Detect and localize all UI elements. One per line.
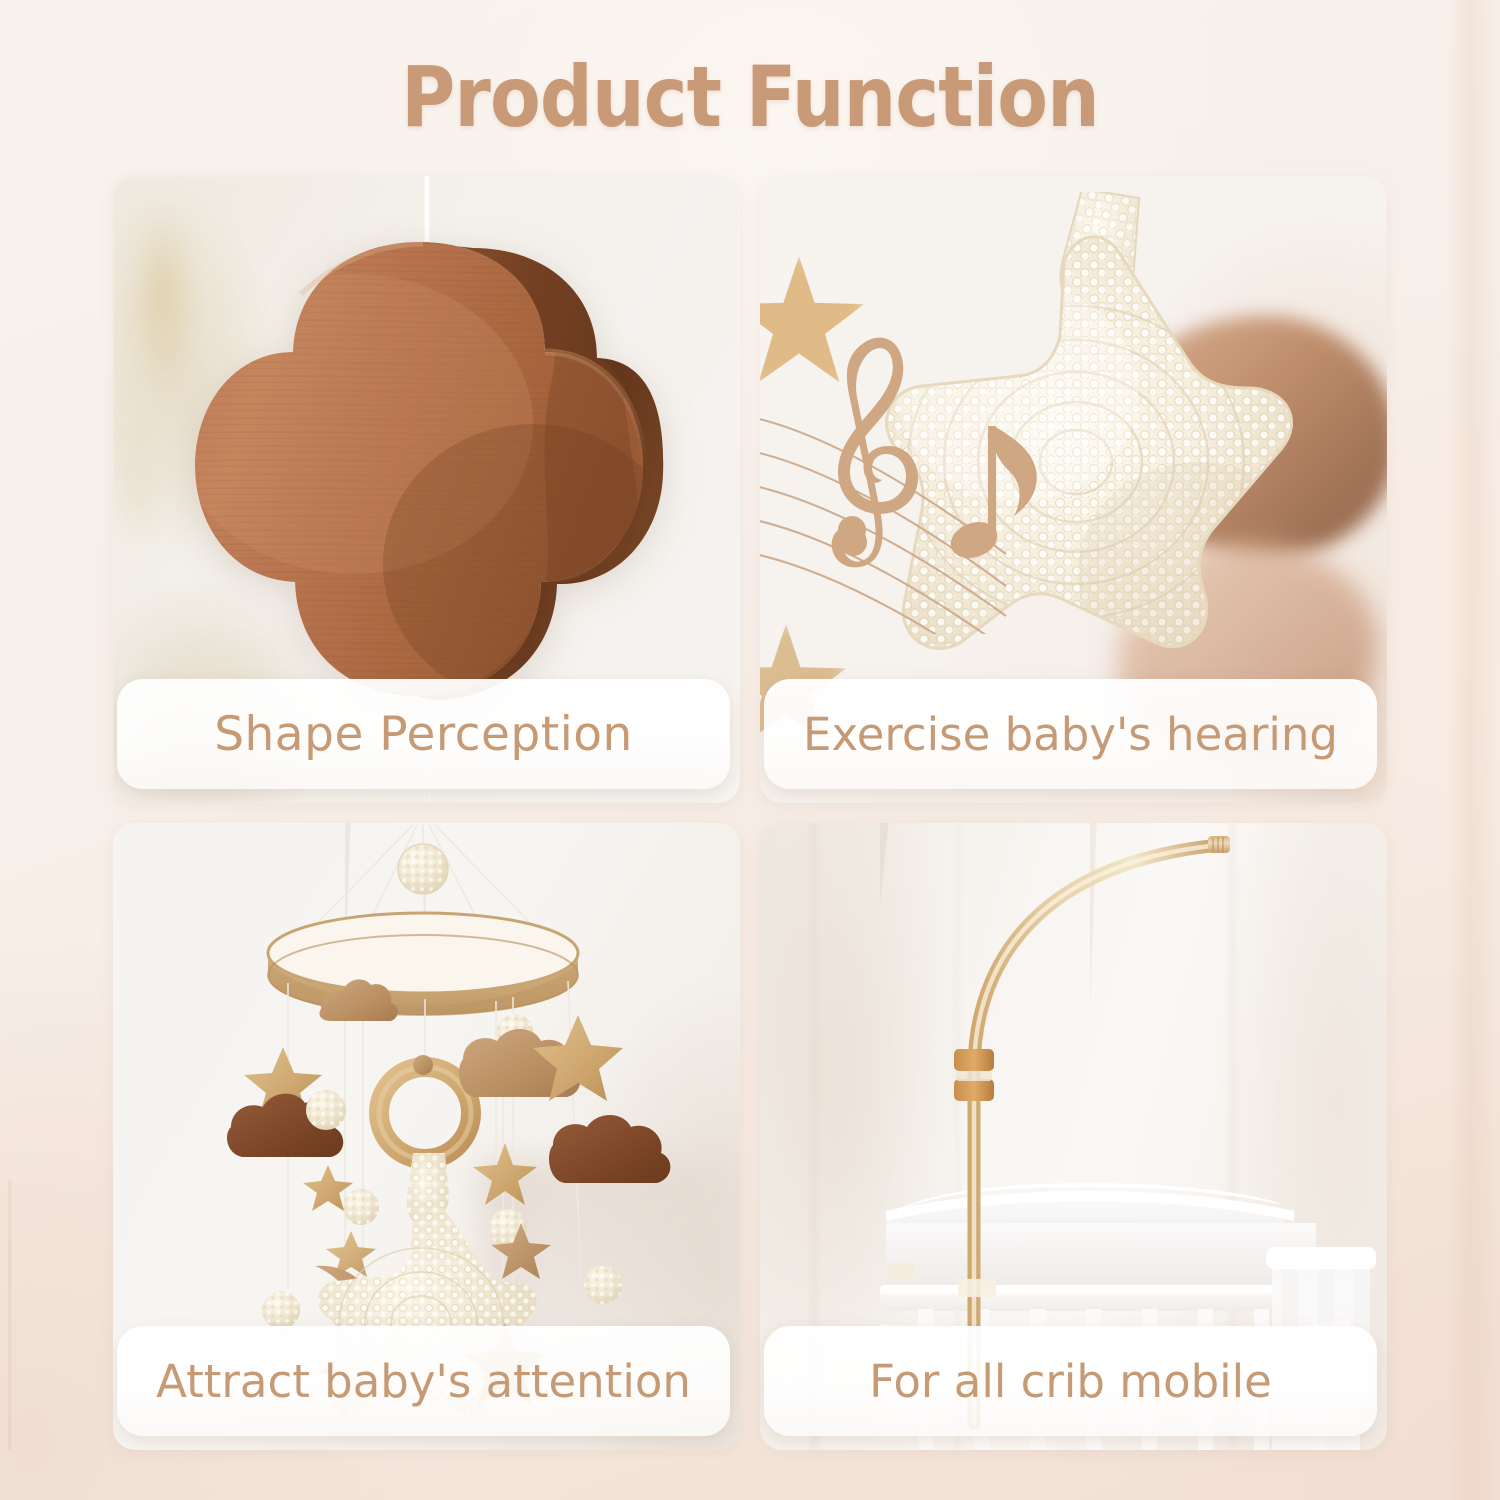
product-photo-crochet-star: Exercise baby's hearing [760, 176, 1387, 803]
panel-caption-bar: For all crib mobile [764, 1326, 1377, 1436]
feature-panel-shape-perception[interactable]: Shape Perception [113, 176, 740, 803]
caption-label: Exercise baby's hearing [803, 708, 1338, 761]
arm-clamp-upper [954, 1049, 994, 1071]
feature-panel-exercise-hearing[interactable]: Exercise baby's hearing [760, 176, 1387, 803]
panel-caption-bar: Attract baby's attention [117, 1326, 730, 1436]
crochet-ball-left-mid [306, 1090, 346, 1130]
crochet-ball-bottom-left [262, 1291, 300, 1329]
wooden-hoop [268, 913, 578, 1015]
feature-panel-all-crib-mobile[interactable]: For all crib mobile [760, 823, 1387, 1450]
crochet-ball-bottom-right [584, 1266, 622, 1304]
wooden-teething-ring [379, 1067, 471, 1159]
page-title: Product Function [90, 48, 1410, 146]
caption-label: For all crib mobile [869, 1355, 1272, 1408]
wooden-star-5 [473, 1143, 537, 1205]
arm-base-bracket [958, 1279, 996, 1297]
music-notes-graphic [760, 304, 1086, 634]
product-photo-full-mobile: Attract baby's attention [113, 823, 740, 1450]
panel-caption-bar: Shape Perception [117, 679, 730, 789]
caption-label: Attract baby's attention [156, 1355, 691, 1408]
feature-panel-grid: Shape Perception [113, 176, 1387, 1450]
wooden-cloud-dark-right [549, 1115, 670, 1183]
crochet-ball-left-low [343, 1189, 379, 1225]
arm-clamp-lower [954, 1079, 994, 1101]
product-photo-crib-arm: For all crib mobile [760, 823, 1387, 1450]
product-photo-wooden-cloud: Shape Perception [113, 176, 740, 803]
caption-label: Shape Perception [214, 707, 633, 762]
eighth-note-icon [946, 426, 1037, 564]
feature-panel-attract-attention[interactable]: Attract baby's attention [113, 823, 740, 1450]
crochet-ball-top [398, 844, 448, 894]
wooden-ring-bead [413, 1055, 433, 1075]
wooden-cloud-shape-icon [173, 234, 665, 724]
panel-caption-bar: Exercise baby's hearing [764, 679, 1377, 789]
